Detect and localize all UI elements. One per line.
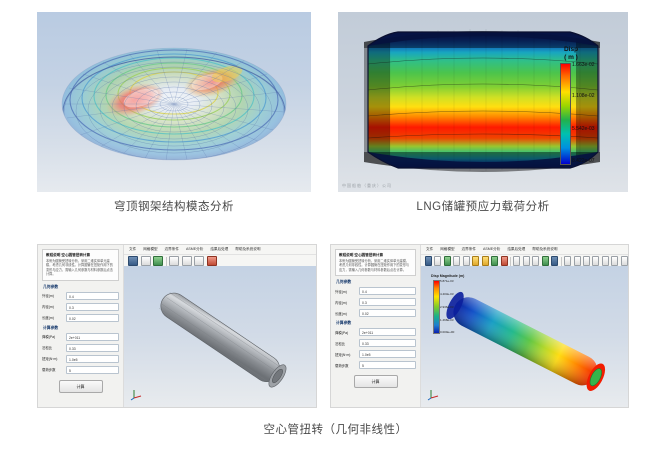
warn-icon[interactable] (501, 256, 508, 266)
new-icon[interactable] (425, 256, 432, 266)
tutorial-title: 教程说明 空心圆管扭转计算 (339, 253, 412, 257)
app-main-left: 文件 网格模型 边界条件 ASME分析 结果后处理 帮助及系统说明 (124, 245, 316, 407)
field-label: 外径(m) (335, 289, 359, 294)
menu-item-asme[interactable]: ASME分析 (483, 247, 500, 252)
menu-item-post[interactable]: 结果后处理 (507, 247, 525, 252)
figure-lng-tank-contour: Disp ( m ) 1.663e-02 1.108e-02 5.542e-03… (338, 12, 628, 192)
axis-triad-icon (130, 387, 144, 401)
open-icon[interactable] (434, 256, 441, 266)
rotate-icon[interactable] (207, 256, 217, 266)
new-icon[interactable] (128, 256, 138, 266)
legend-tick-3: 5.542e-03 (572, 126, 595, 132)
field-row: 外径(m) 0.4 (335, 287, 416, 295)
field-label: 载荷步数 (335, 363, 359, 368)
toolbar-separator (166, 257, 167, 266)
menu-item-mesh[interactable]: 网格模型 (143, 247, 157, 252)
legend-unit: ( m ) (558, 54, 584, 61)
parameter-sidebar-right: 教程说明 空心圆管扭转计算 本例为圆管受扭转分析，采用二维实体单元建模，考虑几何… (331, 245, 421, 407)
legend-tick-3: 2.936e-03 (440, 305, 454, 309)
tube-displacement-contour (421, 266, 628, 407)
tutorial-card: 教程说明 空心圆管扭转计算 本例为圆管受扭转分析，采用二维实体单元建模，考虑几何… (42, 249, 119, 281)
menu-item-mesh[interactable]: 网格模型 (440, 247, 454, 252)
app-main-right: 文件 网格模型 边界条件 ASME分析 结果后处理 帮助及系统说明 (421, 245, 628, 407)
save-icon[interactable] (153, 256, 163, 266)
outer-diameter-input[interactable]: 0.4 (66, 292, 119, 300)
poisson-ratio-input[interactable]: 0.33 (359, 339, 416, 347)
length-input[interactable]: 0.02 (66, 314, 119, 322)
youngs-modulus-input[interactable]: 2e+011 (66, 333, 119, 341)
torque-input[interactable]: 1.0e5 (66, 355, 119, 363)
mesh-icon[interactable] (444, 256, 451, 266)
group-title-geometry: 几何参数 (336, 280, 416, 285)
first-frame-icon[interactable] (564, 256, 571, 266)
run-icon[interactable] (491, 256, 498, 266)
field-row: 外径(m) 0.4 (42, 292, 119, 300)
field-label: 内径(m) (42, 304, 66, 309)
field-label: 泊松比 (42, 345, 66, 350)
field-row: 长度(m) 0.02 (42, 314, 119, 322)
fit-icon[interactable] (523, 256, 530, 266)
length-input[interactable]: 0.02 (359, 309, 416, 317)
legend-tick-max: 5.871e-03 (440, 279, 454, 283)
prev-frame-icon[interactable] (574, 256, 581, 266)
field-row: 弹模(Pa) 2e+011 (335, 328, 416, 336)
rotate-icon[interactable] (532, 256, 539, 266)
select-icon[interactable] (194, 256, 204, 266)
constraint-icon[interactable] (482, 256, 489, 266)
calculate-button[interactable]: 计算 (354, 375, 398, 388)
legend-tick-4: 1.468e-03 (440, 318, 454, 322)
load-icon[interactable] (472, 256, 479, 266)
field-label: 内径(m) (335, 300, 359, 305)
field-row: 内径(m) 0.3 (42, 303, 119, 311)
field-row: 泊松比 0.33 (42, 344, 119, 352)
menu-item-post[interactable]: 结果后处理 (210, 247, 228, 252)
figure-dome-mode-shape (37, 12, 311, 192)
outer-diameter-input[interactable]: 0.4 (359, 287, 416, 295)
tutorial-text: 本例为圆管受扭转分析，采用二维实体单元建模，考虑几何非线性。计算圆管在扭矩作用下… (46, 259, 115, 277)
group-title-geometry: 几何参数 (43, 285, 119, 290)
calculate-button[interactable]: 计算 (59, 380, 103, 393)
menu-item-asme[interactable]: ASME分析 (186, 247, 203, 252)
caption-dome: 穹顶钢架结构模态分析 (37, 198, 311, 214)
result-legend: Disp Magnitude (m) 5.871e-03 4.403e-03 2… (431, 274, 464, 278)
group-title-calculation: 计算参数 (336, 321, 416, 326)
legend-tick-min: 8.422e-07 (572, 158, 595, 164)
poisson-ratio-input[interactable]: 0.33 (66, 344, 119, 352)
viewport-left[interactable] (124, 266, 316, 407)
legend-tick-2: 4.403e-03 (440, 292, 454, 296)
lng-legend: Disp ( m ) 1.663e-02 1.108e-02 5.542e-03… (558, 46, 622, 174)
caption-lng: LNG储罐预应力载荷分析 (338, 198, 628, 214)
caption-tube: 空心管扭转（几何非线性） (0, 421, 671, 437)
field-row: 载荷步数 5 (42, 366, 119, 374)
legend-tick-min: 0.000e+00 (440, 330, 454, 334)
tutorial-text: 本例为圆管受扭转分析，采用二维实体单元建模，考虑几何非线性。计算圆管在扭矩作用下… (339, 259, 412, 272)
last-frame-icon[interactable] (621, 256, 628, 266)
legend-color-bar (433, 280, 440, 334)
field-label: 长度(m) (42, 315, 66, 320)
parameter-sidebar-left: 教程说明 空心圆管扭转计算 本例为圆管受扭转分析，采用二维实体单元建模，考虑几何… (38, 245, 124, 407)
menu-item-help[interactable]: 帮助及系统说明 (235, 247, 260, 252)
dome-mode-shape-plot (37, 12, 311, 192)
menu-item-boundary[interactable]: 边界条件 (462, 247, 476, 252)
copy-icon[interactable] (463, 256, 470, 266)
zoom-icon[interactable] (169, 256, 179, 266)
inner-diameter-input[interactable]: 0.3 (66, 303, 119, 311)
load-steps-input[interactable]: 5 (66, 366, 119, 374)
field-row: 泊松比 0.33 (335, 339, 416, 347)
field-label: 长度(m) (335, 311, 359, 316)
field-row: 扭矩(N·m) 1.0e5 (335, 350, 416, 358)
field-row: 弹模(Pa) 2e+011 (42, 333, 119, 341)
legend-tick-2: 1.108e-02 (572, 93, 595, 99)
open-icon[interactable] (141, 256, 151, 266)
field-row: 长度(m) 0.02 (335, 309, 416, 317)
legend-color-bar (560, 63, 571, 165)
legend-title: Disp (558, 46, 584, 53)
fit-icon[interactable] (182, 256, 192, 266)
menu-item-file[interactable]: 文件 (426, 247, 433, 252)
menu-item-help[interactable]: 帮助及系统说明 (532, 247, 557, 252)
menu-bar-right[interactable]: 文件 网格模型 边界条件 ASME分析 结果后处理 帮助及系统说明 (421, 245, 628, 255)
figure-footnote: 中国船舶（重庆）公司 (342, 183, 392, 189)
group-title-calculation: 计算参数 (43, 326, 119, 331)
tutorial-card: 教程说明 空心圆管扭转计算 本例为圆管受扭转分析，采用二维实体单元建模，考虑几何… (335, 249, 416, 276)
field-label: 弹模(Pa) (335, 330, 359, 335)
rotate-right-icon[interactable] (551, 256, 558, 266)
play-fwd-icon[interactable] (602, 256, 609, 266)
tutorial-title: 教程说明 空心圆管扭转计算 (46, 253, 115, 257)
tube-geometry-model (124, 266, 316, 407)
field-row: 扭矩(N·m) 1.0e5 (42, 355, 119, 363)
field-row: 内径(m) 0.3 (335, 298, 416, 306)
app-window-geometry[interactable]: 教程说明 空心圆管扭转计算 本例为圆管受扭转分析，采用二维实体单元建模，考虑几何… (37, 244, 317, 408)
rotate-left-icon[interactable] (542, 256, 549, 266)
field-label: 载荷步数 (42, 367, 66, 372)
toolbar-separator (510, 257, 511, 266)
field-label: 外径(m) (42, 293, 66, 298)
play-back-icon[interactable] (583, 256, 590, 266)
app-window-result[interactable]: 教程说明 空心圆管扭转计算 本例为圆管受扭转分析，采用二维实体单元建模，考虑几何… (330, 244, 629, 408)
viewport-right[interactable]: Disp Magnitude (m) 5.871e-03 4.403e-03 2… (421, 266, 628, 407)
zoom-icon[interactable] (513, 256, 520, 266)
field-label: 泊松比 (335, 341, 359, 346)
play-icon[interactable] (592, 256, 599, 266)
axis-triad-icon (427, 387, 441, 401)
menu-bar-left[interactable]: 文件 网格模型 边界条件 ASME分析 结果后处理 帮助及系统说明 (124, 245, 316, 255)
poster-root: 穹顶钢架结构模态分析 (0, 0, 671, 450)
toolbar-separator (561, 257, 562, 266)
field-row: 载荷步数 5 (335, 361, 416, 369)
legend-tick-max: 1.663e-02 (572, 62, 595, 68)
legend-title: Disp Magnitude (m) (431, 274, 464, 278)
next-frame-icon[interactable] (611, 256, 618, 266)
youngs-modulus-input[interactable]: 2e+011 (359, 328, 416, 336)
field-label: 扭矩(N·m) (42, 356, 66, 361)
load-steps-input[interactable]: 5 (359, 361, 416, 369)
save-icon[interactable] (453, 256, 460, 266)
field-label: 扭矩(N·m) (335, 352, 359, 357)
inner-diameter-input[interactable]: 0.3 (359, 298, 416, 306)
field-label: 弹模(Pa) (42, 334, 66, 339)
menu-item-file[interactable]: 文件 (129, 247, 136, 252)
menu-item-boundary[interactable]: 边界条件 (165, 247, 179, 252)
torque-input[interactable]: 1.0e5 (359, 350, 416, 358)
